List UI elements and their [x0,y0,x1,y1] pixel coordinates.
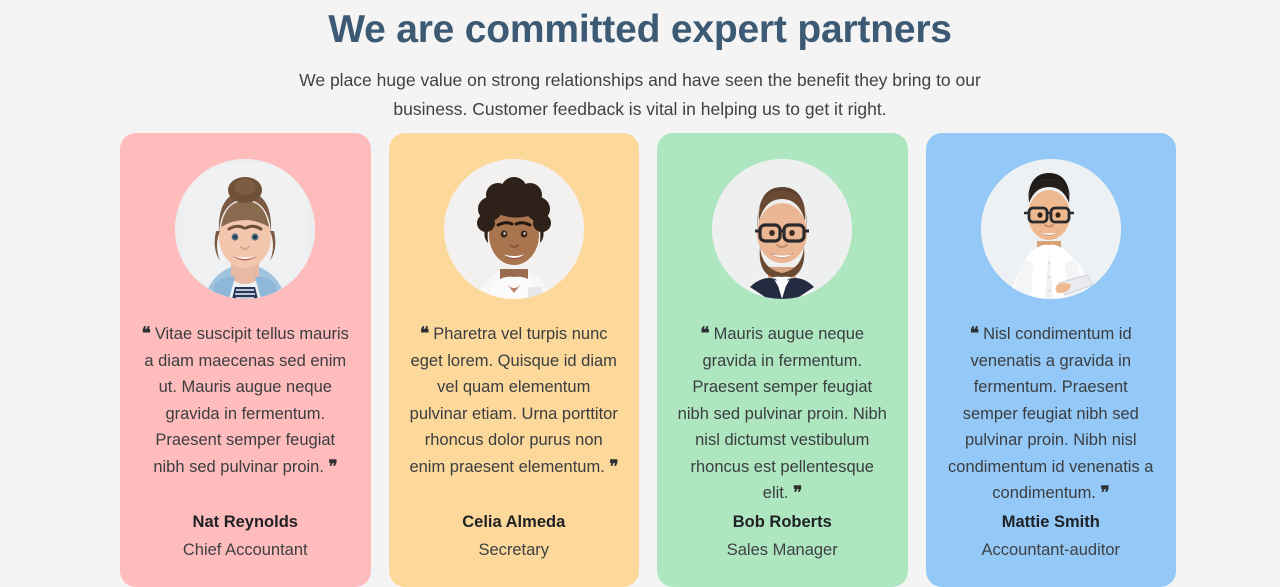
quote-close-icon: ❞ [609,457,618,476]
testimonial-quote: ❝ Nisl condimentum id venenatis a gravid… [946,321,1157,507]
quote-open-icon: ❝ [970,324,979,343]
page-title: We are committed expert partners [0,4,1280,56]
section-header: We are committed expert partners We plac… [0,0,1280,124]
quote-open-icon: ❝ [700,324,709,343]
person-role: Secretary [478,539,549,561]
person-name: Mattie Smith [1002,511,1100,533]
quote-close-icon: ❞ [793,483,802,502]
testimonial-card[interactable]: ❝ Vitae suscipit tellus mauris a diam ma… [120,133,371,587]
testimonial-card[interactable]: ❝ Mauris augue neque gravida in fermentu… [657,133,908,587]
person-name: Nat Reynolds [193,511,298,533]
avatar-nat-reynolds [175,159,315,299]
testimonial-quote: ❝ Vitae suscipit tellus mauris a diam ma… [140,321,351,480]
quote-open-icon: ❝ [142,324,151,343]
person-role: Accountant-auditor [981,539,1120,561]
quote-body: Vitae suscipit tellus mauris a diam maec… [144,325,349,476]
testimonial-quote: ❝ Mauris augue neque gravida in fermentu… [677,321,888,507]
testimonial-quote: ❝ Pharetra vel turpis nunc eget lorem. Q… [409,321,620,480]
quote-body: Pharetra vel turpis nunc eget lorem. Qui… [409,325,617,476]
testimonial-card[interactable]: ❝ Pharetra vel turpis nunc eget lorem. Q… [389,133,640,587]
quote-close-icon: ❞ [1101,483,1110,502]
avatar-bob-roberts [712,159,852,299]
person-name: Celia Almeda [462,511,565,533]
page-subtitle: We place huge value on strong relationsh… [290,66,990,124]
quote-close-icon: ❞ [329,457,338,476]
testimonials-section: We are committed expert partners We plac… [0,0,1280,587]
quote-open-icon: ❝ [420,324,429,343]
testimonial-cards-row: ❝ Vitae suscipit tellus mauris a diam ma… [120,133,1176,587]
avatar-mattie-smith [981,159,1121,299]
person-role: Sales Manager [727,539,838,561]
person-role: Chief Accountant [183,539,308,561]
person-name: Bob Roberts [733,511,832,533]
testimonial-card[interactable]: ❝ Nisl condimentum id venenatis a gravid… [926,133,1177,587]
avatar-celia-almeda [444,159,584,299]
quote-body: Mauris augue neque gravida in fermentum.… [678,325,887,502]
quote-body: Nisl condimentum id venenatis a gravida … [948,325,1153,502]
